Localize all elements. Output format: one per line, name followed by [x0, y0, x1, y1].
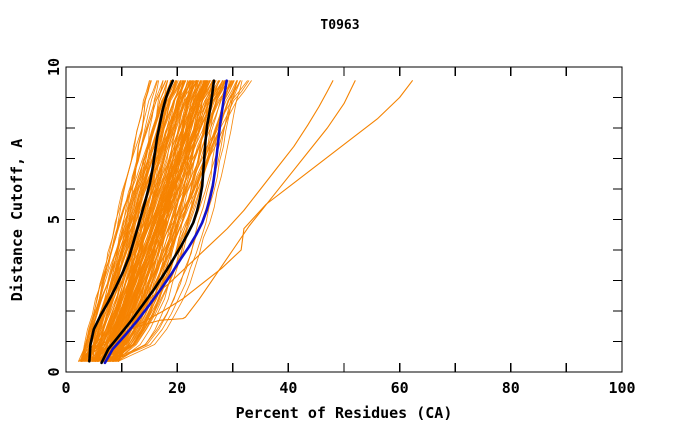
chart-figure: T0963 0204060801000510 Percent of Residu… — [0, 0, 680, 440]
y-tick-label: 5 — [45, 215, 63, 224]
x-tick-label: 100 — [608, 379, 635, 397]
chart-canvas: T0963 0204060801000510 Percent of Residu… — [0, 0, 680, 440]
chart-title: T0963 — [320, 18, 359, 33]
y-tick-label: 10 — [45, 58, 63, 76]
x-tick-label: 40 — [279, 379, 297, 397]
x-tick-label: 80 — [502, 379, 520, 397]
x-tick-label: 60 — [391, 379, 409, 397]
x-axis-title: Percent of Residues (CA) — [236, 404, 453, 422]
y-tick-label: 0 — [45, 367, 63, 376]
y-axis-title: Distance Cutoff, A — [8, 139, 26, 302]
x-tick-label: 20 — [168, 379, 186, 397]
x-tick-label: 0 — [61, 379, 70, 397]
figure-background — [0, 0, 680, 440]
